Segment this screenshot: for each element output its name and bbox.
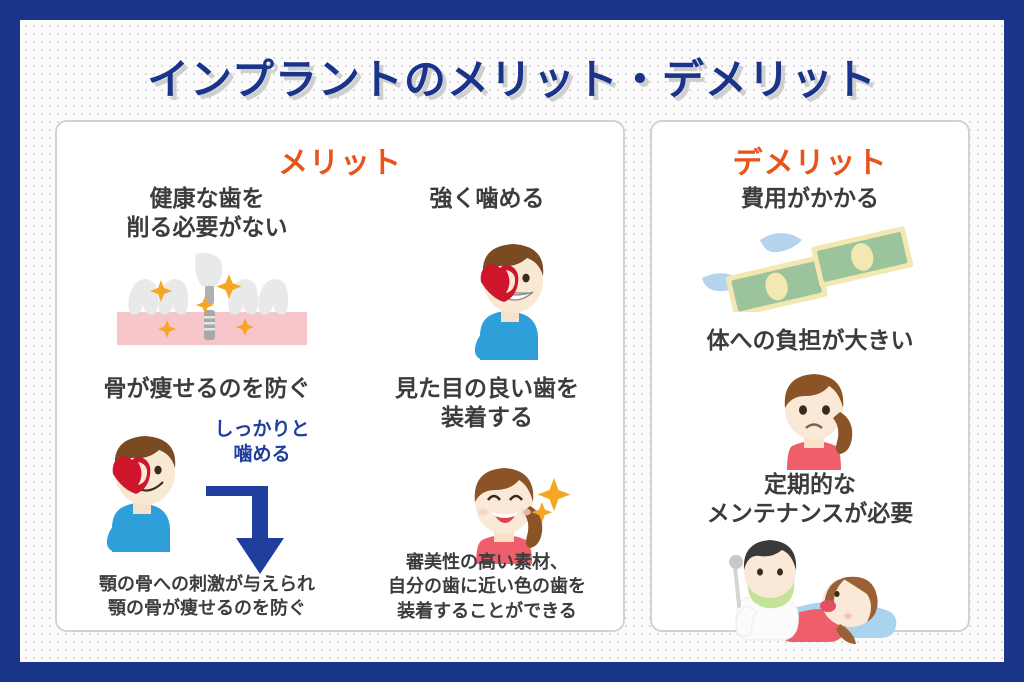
- boy-eating-apple-icon-2: [77, 422, 197, 552]
- dotted-canvas: インプラントのメリット・デメリット メリット 健康な歯を 削る必要がない: [20, 20, 1004, 662]
- merit-item-3-caption: 顎の骨への刺激が与えられ 顎の骨が痩せるのを防ぐ: [62, 572, 352, 621]
- implant-teeth-icon: [117, 252, 307, 347]
- merit-item-4-caption: 審美性の高い素材、 自分の歯に近い色の歯を 装着することができる: [352, 550, 622, 623]
- demerit-item-1-heading: 費用がかかる: [652, 184, 968, 213]
- merit-item-2-heading: 強く噛める: [357, 184, 617, 213]
- merit-item-4-heading: 見た目の良い歯を 装着する: [357, 374, 617, 433]
- demerit-panel: デメリット 費用がかかる: [650, 120, 970, 632]
- merit-item-3-callout: しっかりと 噛める: [187, 418, 337, 467]
- merit-panel: メリット 健康な歯を 削る必要がない: [55, 120, 625, 632]
- demerit-panel-heading: デメリット: [652, 138, 968, 182]
- smiling-girl-icon: [442, 454, 572, 564]
- merit-panel-heading: メリット: [57, 138, 623, 182]
- page-title: インプラントのメリット・デメリット: [20, 46, 1004, 107]
- merit-item-1-heading: 健康な歯を 削る必要がない: [67, 184, 347, 243]
- merit-item-3-heading: 骨が痩せるのを防ぐ: [67, 374, 347, 403]
- dentist-treatment-icon: [720, 540, 910, 650]
- worried-woman-icon: [757, 362, 872, 470]
- boy-eating-apple-icon: [445, 230, 565, 360]
- infographic-root: インプラントのメリット・デメリット メリット 健康な歯を 削る必要がない: [0, 0, 1024, 682]
- bent-down-arrow-icon: [202, 480, 322, 582]
- demerit-item-3-heading: 定期的な メンテナンスが必要: [652, 470, 968, 529]
- flying-money-icon: [702, 222, 917, 312]
- demerit-item-2-heading: 体への負担が大きい: [652, 326, 968, 355]
